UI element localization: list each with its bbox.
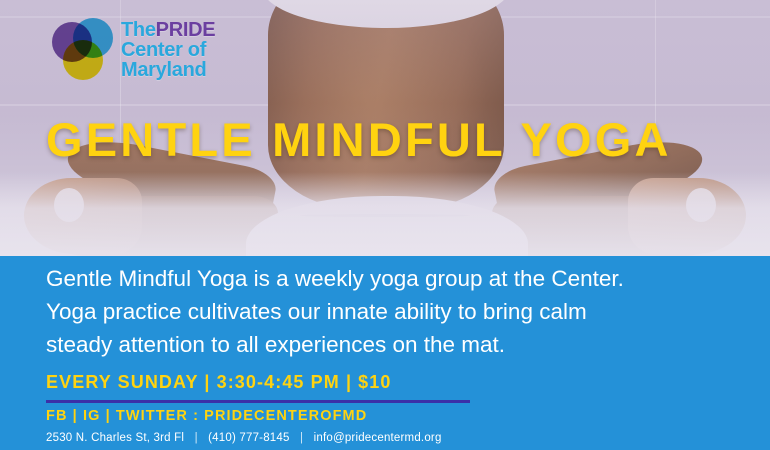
- logo-wordmark: ThePRIDE Center of Maryland: [121, 21, 215, 80]
- divider: [46, 400, 470, 403]
- description-line: steady attention to all experiences on t…: [46, 328, 736, 361]
- description-line: Gentle Mindful Yoga is a weekly yoga gro…: [46, 262, 736, 295]
- logo-circle-yellow-icon: [63, 40, 103, 80]
- social-handles: FB | IG | TWITTER : PRIDECENTEROFMD: [46, 408, 367, 424]
- description-line: Yoga practice cultivates our innate abil…: [46, 295, 736, 328]
- schedule-details: EVERY SUNDAY | 3:30-4:45 PM | $10: [46, 372, 392, 393]
- logo-circles-icon: [52, 18, 114, 84]
- photo-floor: [0, 172, 770, 258]
- page-title: GENTLE MINDFUL YOGA: [46, 112, 672, 167]
- logo-line-2: Center of: [121, 41, 215, 61]
- contact-separator: |: [188, 432, 205, 444]
- yoga-flyer: ThePRIDE Center of Maryland GENTLE MINDF…: [0, 0, 770, 450]
- contact-info: 2530 N. Charles St, 3rd Fl | (410) 777-8…: [46, 432, 442, 444]
- description-text: Gentle Mindful Yoga is a weekly yoga gro…: [46, 262, 736, 361]
- logo-pride: PRIDE: [156, 19, 216, 41]
- contact-separator: |: [293, 432, 310, 444]
- logo-line-3: Maryland: [121, 61, 215, 81]
- contact-email: info@pridecentermd.org: [314, 432, 442, 444]
- pride-center-logo: ThePRIDE Center of Maryland: [52, 18, 215, 84]
- contact-phone: (410) 777-8145: [208, 432, 289, 444]
- info-panel: Gentle Mindful Yoga is a weekly yoga gro…: [0, 256, 770, 450]
- contact-address: 2530 N. Charles St, 3rd Fl: [46, 432, 184, 444]
- logo-the: The: [121, 19, 156, 41]
